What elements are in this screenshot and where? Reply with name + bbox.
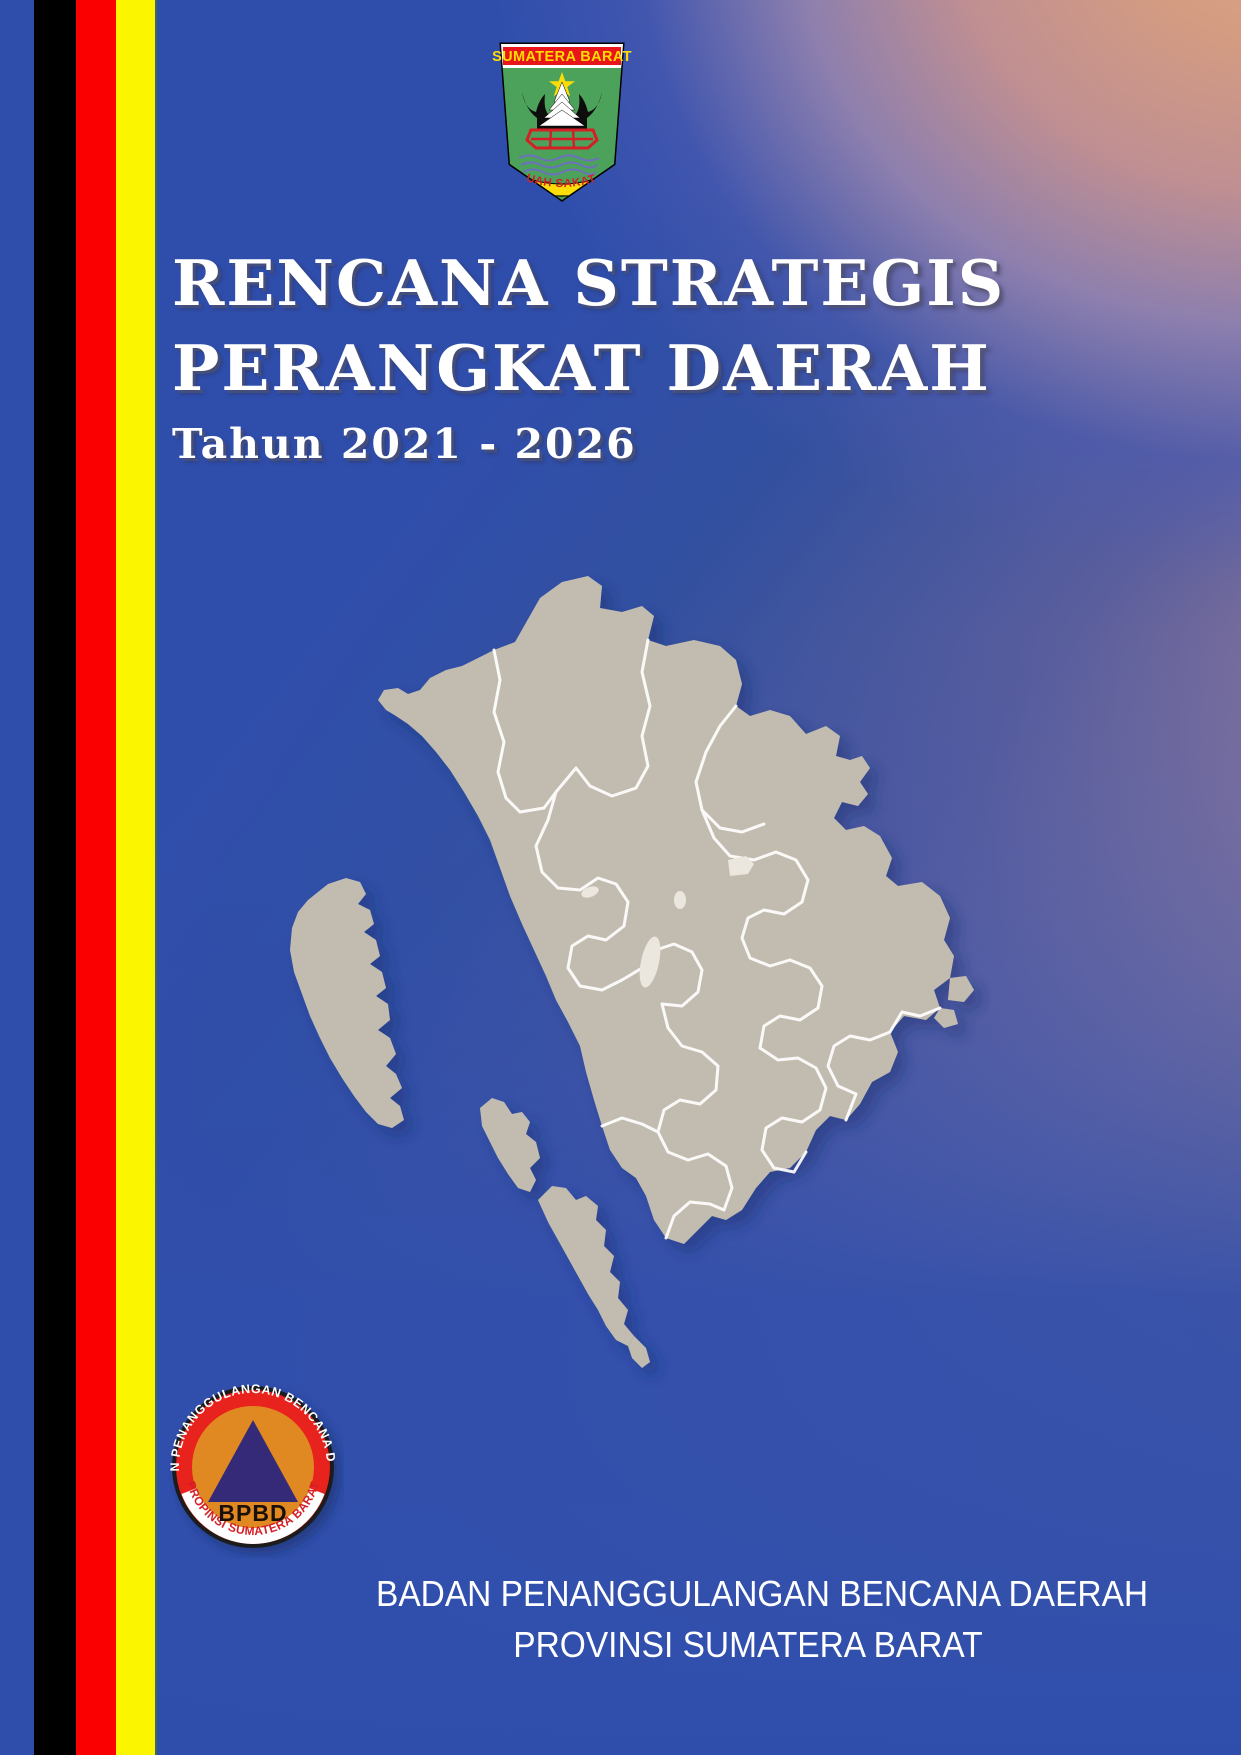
- siberut-island: [290, 878, 404, 1128]
- west-sumatra-map: [250, 520, 990, 1400]
- page-title-line-2: PERANGKAT DAERAH: [172, 337, 1072, 400]
- coat-of-arms-icon: SUMATERA BARAT TUAH SAKATO: [487, 38, 637, 206]
- stripe-yellow: [116, 0, 155, 1755]
- page-title-line-1: RENCANA STRATEGIS: [172, 252, 1072, 315]
- mainland-shape: [378, 576, 954, 1244]
- title-block: RENCANA STRATEGIS PERANGKAT DAERAH Tahun…: [172, 252, 1072, 465]
- bpbd-logo-icon: BADAN PENANGGULANGAN BENCANA DAERAH PROP…: [162, 1376, 344, 1558]
- document-cover: SUMATERA BARAT TUAH SAKATO RENCANA STRAT…: [0, 0, 1241, 1755]
- footer-line-2: PROVINSI SUMATERA BARAT: [376, 1619, 1120, 1670]
- stripe-black: [34, 0, 76, 1755]
- left-color-stripes: [0, 0, 156, 1755]
- logo-acronym-text: BPBD: [218, 1500, 287, 1526]
- stripe-blue: [0, 0, 34, 1755]
- coa-banner-text: SUMATERA BARAT: [492, 49, 632, 65]
- stripe-edge: [155, 0, 157, 1755]
- pagai-island: [538, 1186, 634, 1346]
- footer-block: BADAN PENANGGULANGAN BENCANA DAERAH PROV…: [348, 1568, 1148, 1670]
- footer-line-1: BADAN PENANGGULANGAN BENCANA DAERAH: [376, 1568, 1120, 1619]
- period-label: Tahun 2021 - 2026: [172, 424, 1072, 465]
- sipora-island: [480, 1098, 540, 1192]
- map-landmasses: [290, 576, 974, 1368]
- stripe-red: [76, 0, 116, 1755]
